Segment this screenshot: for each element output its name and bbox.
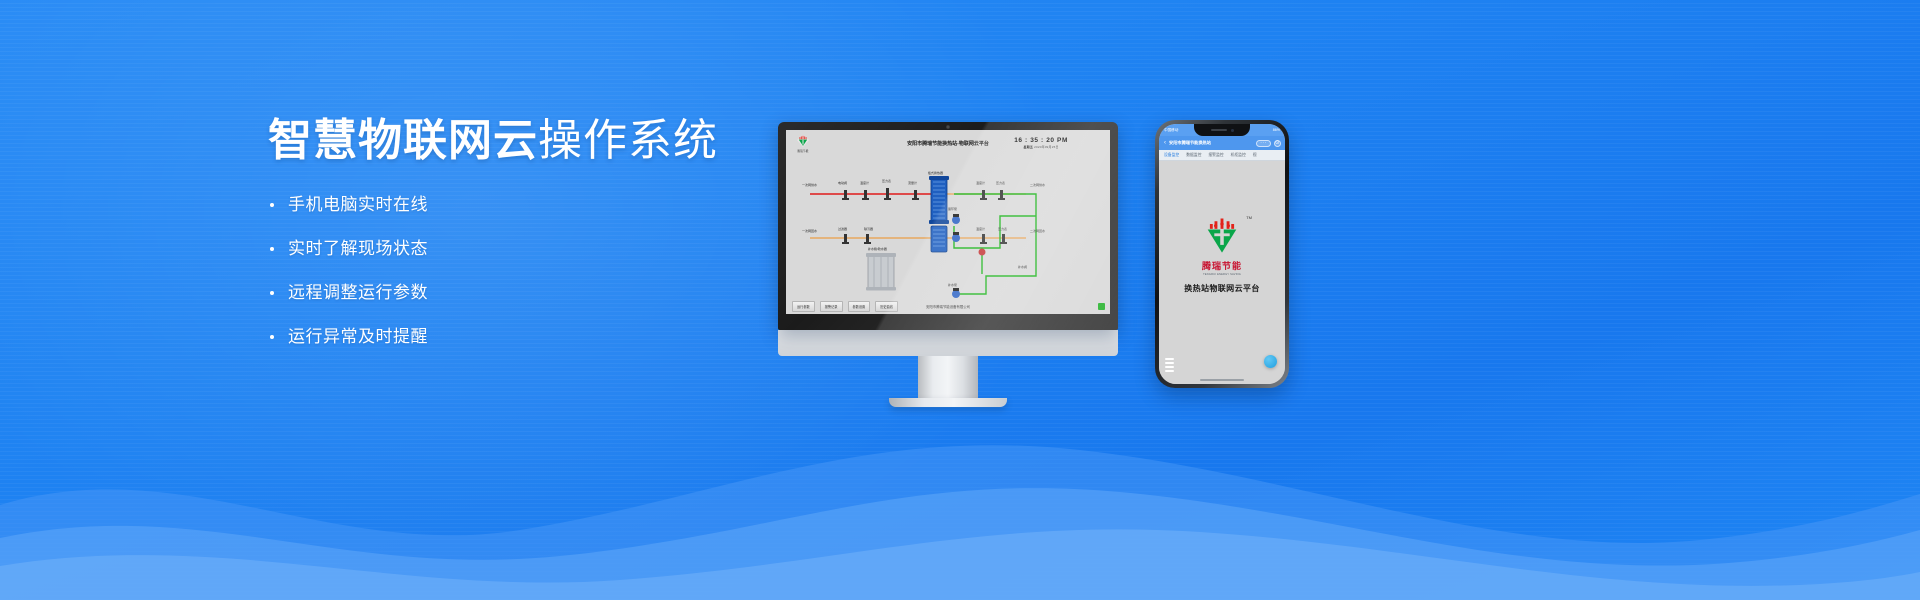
- home-indicator: [1200, 379, 1244, 382]
- page-title: 智慧物联网云操作系统: [268, 118, 788, 164]
- svg-text:补水箱/软水器: 补水箱/软水器: [868, 246, 887, 251]
- tengrui-diamond-logo-icon: TM: [1200, 213, 1244, 257]
- tab-device-monitor[interactable]: 设备监控: [1164, 153, 1179, 158]
- list-item: 远程调整运行参数: [268, 284, 788, 301]
- svg-text:压力表: 压力表: [882, 178, 891, 183]
- earpiece-icon: [1211, 129, 1227, 131]
- scada-logo-label: 腾瑞节能: [797, 149, 808, 153]
- list-item-label: 运行异常及时提醒: [288, 327, 428, 346]
- bullet-dot-icon: [270, 247, 274, 251]
- desktop-monitor-mockup: 腾瑞节能 安阳市腾瑞节能换热站-物联网云平台 16 : 35 : 20 PM 星…: [778, 122, 1118, 407]
- scada-logo: 腾瑞节能: [792, 134, 814, 153]
- front-camera-icon: [1231, 129, 1234, 132]
- scada-time: 16 : 35 : 20 PM: [1014, 137, 1068, 144]
- scada-button-settings[interactable]: 参数设置: [848, 301, 871, 312]
- phone-tab-bar: 设备监控 数据监控 报警监控 机柜监控 视: [1159, 150, 1285, 161]
- monitor-stand-base: [889, 398, 1007, 407]
- scada-title: 安阳市腾瑞节能换热站-物联网云平台: [907, 140, 989, 147]
- platform-title: 换热站物联网云平台: [1184, 283, 1260, 294]
- svg-text:二次网回水: 二次网回水: [1030, 228, 1045, 233]
- hero-banner: 智慧物联网云操作系统 手机电脑实时在线 实时了解现场状态 远程调整运行参数 运行…: [0, 0, 1920, 600]
- svg-text:循环泵: 循环泵: [948, 206, 957, 211]
- smartphone-mockup: 中国移动 86% ‹ 安阳市腾瑞节能换热站 ··· ⊙ 设备监控 数据监控 报警…: [1155, 120, 1289, 388]
- monitor-chin: [778, 330, 1118, 356]
- water-tank-icon: [866, 253, 896, 291]
- feature-list: 手机电脑实时在线 实时了解现场状态 远程调整运行参数 运行异常及时提醒: [268, 196, 788, 345]
- trademark-label: TM: [1246, 215, 1252, 220]
- scada-header: 腾瑞节能 安阳市腾瑞节能换热站-物联网云平台 16 : 35 : 20 PM 星…: [786, 130, 1110, 156]
- hero-copy: 智慧物联网云操作系统 手机电脑实时在线 实时了解现场状态 远程调整运行参数 运行…: [268, 118, 788, 372]
- svg-text:流量计: 流量计: [908, 180, 917, 185]
- svg-text:压力表: 压力表: [996, 180, 1005, 185]
- bullet-dot-icon: [270, 291, 274, 295]
- phone-nav-bar: ‹ 安阳市腾瑞节能换热站 ··· ⊙: [1159, 136, 1285, 150]
- scada-footer: 运行参数 报警记录 参数设置 历史曲线 安阳市腾瑞节能设备有限公司: [786, 298, 1110, 314]
- monitor-screen: 腾瑞节能 安阳市腾瑞节能换热站-物联网云平台 16 : 35 : 20 PM 星…: [786, 130, 1110, 314]
- bullet-dot-icon: [270, 335, 274, 339]
- tab-alarm-monitor[interactable]: 报警监控: [1208, 153, 1223, 158]
- list-item-label: 实时了解现场状态: [288, 239, 428, 258]
- list-item-label: 远程调整运行参数: [288, 283, 428, 302]
- scada-date-value: 2020年09月25日: [1034, 145, 1059, 149]
- monitor-stand-neck: [918, 356, 978, 398]
- scada-button-runtime[interactable]: 运行参数: [792, 301, 815, 312]
- wave-decoration: [0, 410, 1920, 600]
- scada-button-history[interactable]: 历史曲线: [875, 301, 898, 312]
- scada-weekday: 星期五: [1023, 145, 1033, 149]
- svg-text:温度计: 温度计: [976, 180, 985, 185]
- svg-text:电动阀: 电动阀: [838, 180, 847, 185]
- scada-diagram: 一次网供水 电动阀 温度计 压力表 流量计 一次网回水 过滤器 除污器 温度计 …: [786, 156, 1110, 306]
- list-item: 运行异常及时提醒: [268, 328, 788, 345]
- bullet-dot-icon: [270, 203, 274, 207]
- svg-text:压力表: 压力表: [998, 226, 1007, 231]
- status-carrier: 中国移动: [1164, 128, 1178, 133]
- refresh-icon[interactable]: [1264, 355, 1277, 368]
- svg-text:温度计: 温度计: [860, 180, 869, 185]
- tab-video-monitor[interactable]: 视: [1253, 153, 1257, 158]
- title-light: 操作系统: [538, 116, 718, 165]
- svg-text:一次网回水: 一次网回水: [802, 228, 817, 233]
- svg-text:温度计: 温度计: [976, 226, 985, 231]
- phone-content: TM: [1159, 161, 1285, 384]
- svg-text:过滤器: 过滤器: [838, 226, 847, 231]
- svg-text:补水泵: 补水泵: [948, 282, 957, 287]
- list-item: 实时了解现场状态: [268, 240, 788, 257]
- title-strong: 智慧物联网云: [268, 116, 538, 165]
- tengrui-diamond-logo-icon: [796, 134, 810, 148]
- tab-data-monitor[interactable]: 数据监控: [1186, 153, 1201, 158]
- webcam-icon: [946, 125, 950, 129]
- svg-text:一次网供水: 一次网供水: [802, 182, 817, 187]
- svg-text:补水阀: 补水阀: [1018, 264, 1027, 269]
- phone-notch: [1194, 124, 1250, 136]
- monitor-bezel: 腾瑞节能 安阳市腾瑞节能换热站-物联网云平台 16 : 35 : 20 PM 星…: [778, 122, 1118, 330]
- svg-text:板式换热器: 板式换热器: [928, 170, 943, 175]
- ellipsis-icon[interactable]: ···: [1256, 140, 1271, 147]
- scada-button-alarms[interactable]: 报警记录: [820, 301, 843, 312]
- phone-screen: 中国移动 86% ‹ 安阳市腾瑞节能换热站 ··· ⊙ 设备监控 数据监控 报警…: [1159, 124, 1285, 384]
- menu-lines-icon[interactable]: [1165, 358, 1174, 372]
- status-badge: [1098, 303, 1105, 310]
- plate-heat-exchanger-icon: [929, 176, 949, 252]
- chevron-left-icon[interactable]: ‹: [1164, 140, 1166, 146]
- brand-name: 腾瑞节能: [1202, 259, 1242, 272]
- close-circle-icon[interactable]: ⊙: [1274, 140, 1281, 147]
- status-battery: 86%: [1273, 128, 1280, 132]
- tab-cabinet-monitor[interactable]: 机柜监控: [1231, 153, 1246, 158]
- list-item: 手机电脑实时在线: [268, 196, 788, 213]
- phone-nav-title: 安阳市腾瑞节能换热站: [1169, 140, 1211, 146]
- brand-subtitle: TENGRUI ENERGY SAVING: [1203, 273, 1241, 276]
- svg-text:除污器: 除污器: [864, 226, 873, 231]
- phone-frame: 中国移动 86% ‹ 安阳市腾瑞节能换热站 ··· ⊙ 设备监控 数据监控 报警…: [1155, 120, 1289, 388]
- scada-clock: 16 : 35 : 20 PM 星期五 2020年09月25日: [1014, 137, 1068, 149]
- phone-nav-actions: ··· ⊙: [1256, 140, 1281, 147]
- list-item-label: 手机电脑实时在线: [288, 195, 428, 214]
- scada-copyright: 安阳市腾瑞节能设备有限公司: [926, 304, 970, 309]
- svg-text:二次网供水: 二次网供水: [1030, 182, 1045, 187]
- scada-date: 星期五 2020年09月25日: [1014, 145, 1068, 149]
